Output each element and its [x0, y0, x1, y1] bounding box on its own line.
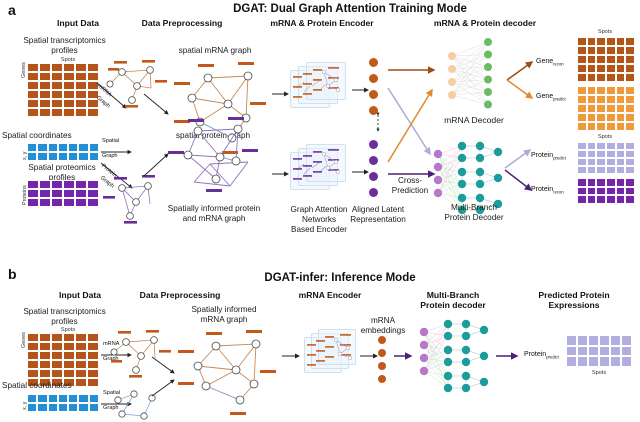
matrix-cell	[75, 99, 87, 108]
matrix-cell	[63, 360, 75, 369]
panel-a-header-data-preprocessing: Data Preprocessing	[122, 19, 242, 29]
matrix-cell	[48, 143, 58, 152]
arrow-label-spatial-graph-line1: Spatial	[102, 138, 119, 144]
matrix-cell	[606, 73, 616, 82]
matrix-cell	[616, 73, 626, 82]
decoder-input-node	[448, 91, 456, 99]
matrix-cell	[625, 37, 635, 46]
matrix-cell	[616, 166, 626, 174]
matrix-coordinates	[27, 143, 99, 161]
figure-root: a DGAT: Dual Graph Attention Training Mo…	[0, 0, 640, 420]
latent-node	[378, 362, 386, 370]
matrix-cell	[63, 108, 75, 117]
matrix-cell	[610, 335, 621, 346]
matrix-cell	[599, 356, 610, 367]
protein-predict-sub: predict	[553, 155, 566, 160]
matrix-cell	[587, 104, 597, 113]
panel-b-graph-combined	[176, 322, 284, 412]
matrix-cell	[577, 37, 587, 46]
decoder-branch-node	[462, 332, 470, 340]
panel-a-title: DGAT: Dual Graph Attention Training Mode	[200, 3, 500, 15]
matrix-cell	[51, 198, 63, 207]
matrix-cell	[63, 90, 75, 99]
label-spatial-mrna-graph: spatial mRNA graph	[160, 46, 270, 56]
matrix-cell	[27, 63, 39, 72]
matrix-cell	[599, 346, 610, 357]
panel-b-header-predicted-expressions: Predicted Protein Expressions	[516, 291, 632, 311]
output-label-gene-predict: Genepredict	[536, 93, 566, 101]
matrix-cell	[48, 394, 58, 403]
matrix-cell	[48, 152, 58, 161]
matrix-cell	[606, 166, 616, 174]
matrix-cell	[616, 37, 626, 46]
input-label-transcriptomics: Spatial transcriptomics profiles	[2, 36, 127, 56]
encoder-stack-mrna	[290, 58, 354, 118]
matrix-cell	[596, 73, 606, 82]
arrow-gene-predict	[506, 70, 540, 120]
decoder-branch-node	[458, 168, 466, 176]
decoder-input-node	[448, 65, 456, 73]
matrix-cell	[63, 99, 75, 108]
decoder-branch-node	[444, 320, 452, 328]
label-mrna-decoder: mRNA Decoder	[440, 115, 508, 125]
decoder-merge-node	[480, 352, 488, 360]
matrix-cell	[587, 95, 597, 104]
matrix-cell	[616, 55, 626, 64]
panel-b-arrow-output	[496, 350, 524, 362]
matrix-cell	[625, 142, 635, 150]
protein-predict-text: Protein	[531, 152, 553, 159]
panel-b-header-protein-decoder: Multi-Branch Protein decoder	[398, 291, 508, 311]
matrix-cell	[616, 64, 626, 73]
matrix-cell	[577, 142, 587, 150]
matrix-protein-predict	[577, 142, 635, 174]
protein-recon-sub: recon	[553, 189, 563, 194]
matrix-cell	[596, 55, 606, 64]
matrix-cell	[63, 180, 75, 189]
latent-node	[369, 74, 378, 83]
matrix-cell	[75, 90, 87, 99]
matrix-cell	[27, 180, 39, 189]
encoder-graph-motif-protein	[290, 140, 354, 200]
matrix-cell	[39, 360, 51, 369]
matrix-cell	[39, 63, 51, 72]
panel-b-input-label-transcriptomics: Spatial transcriptomics profiles	[2, 307, 127, 327]
matrix-cell	[566, 346, 577, 357]
matrix-cell	[51, 81, 63, 90]
matrix-cell	[596, 122, 606, 131]
panel-b-matrix-coordinates	[27, 394, 99, 412]
matrix-cell	[577, 55, 587, 64]
matrix-cell	[63, 63, 75, 72]
matrix-cell	[37, 152, 47, 161]
matrix-cell	[577, 150, 587, 158]
matrix-cell	[577, 113, 587, 122]
decoder-branch-node	[458, 142, 466, 150]
decoder-input-node	[420, 341, 428, 349]
matrix-cell	[596, 142, 606, 150]
matrix-cell	[596, 104, 606, 113]
matrix-cell	[621, 335, 632, 346]
matrix-cell	[625, 158, 635, 166]
decoder-output-node	[484, 76, 492, 84]
decoder-input-node	[448, 78, 456, 86]
matrix-cell	[577, 122, 587, 131]
matrix-cell	[37, 394, 47, 403]
matrix-cell	[606, 150, 616, 158]
panel-b-protein-predict-sub: predict	[546, 354, 559, 359]
matrix-cell	[596, 158, 606, 166]
matrix-cell	[577, 356, 588, 367]
matrix-cell	[577, 95, 587, 104]
matrix-cell	[75, 342, 87, 351]
matrix-cell	[577, 158, 587, 166]
panel-a-header-decoder: mRNA & Protein decoder	[410, 19, 560, 29]
matrix-cell	[75, 189, 87, 198]
decoder-branch-node	[462, 346, 470, 354]
matrix-cell	[27, 143, 37, 152]
panel-b-title: DGAT-infer: Inference Mode	[190, 272, 490, 284]
matrix-cell	[39, 189, 51, 198]
matrix-proteomics	[27, 180, 99, 207]
matrix-cell	[616, 178, 626, 187]
matrix-cell	[51, 351, 63, 360]
matrix-cell	[78, 394, 88, 403]
arrow-label-spatial-graph-line2: Graph	[102, 153, 118, 159]
matrix-cell	[39, 198, 51, 207]
matrix-cell	[27, 72, 39, 81]
matrix-cell	[606, 95, 616, 104]
matrix-cell	[75, 108, 87, 117]
axis-label-spots-gene: Spots	[577, 29, 633, 35]
matrix-cell	[51, 99, 63, 108]
matrix-cell	[625, 64, 635, 73]
matrix-cell	[606, 37, 616, 46]
matrix-cell	[63, 351, 75, 360]
matrix-cell	[616, 113, 626, 122]
decoder-output-node	[484, 88, 492, 96]
matrix-cell	[606, 158, 616, 166]
decoder-branch-node	[444, 346, 452, 354]
matrix-cell	[596, 113, 606, 122]
matrix-cell	[596, 86, 606, 95]
matrix-cell	[577, 187, 587, 196]
decoder-branch-node	[458, 194, 466, 202]
matrix-cell	[596, 64, 606, 73]
matrix-cell	[87, 333, 99, 342]
matrix-cell	[63, 189, 75, 198]
matrix-cell	[577, 346, 588, 357]
matrix-cell	[27, 394, 37, 403]
matrix-cell	[27, 403, 37, 412]
matrix-cell	[58, 394, 68, 403]
decoder-merge-node	[494, 174, 502, 182]
matrix-cell	[51, 342, 63, 351]
matrix-cell	[616, 187, 626, 196]
matrix-cell	[587, 113, 597, 122]
matrix-cell	[587, 55, 597, 64]
latent-node	[369, 188, 378, 197]
matrix-cell	[596, 95, 606, 104]
matrix-cell	[63, 72, 75, 81]
decoder-input-node	[434, 163, 442, 171]
matrix-cell	[27, 108, 39, 117]
matrix-cell	[616, 95, 626, 104]
matrix-cell	[616, 158, 626, 166]
matrix-cell	[75, 360, 87, 369]
matrix-cell	[58, 152, 68, 161]
matrix-cell	[577, 64, 587, 73]
matrix-cell	[51, 333, 63, 342]
matrix-cell	[58, 403, 68, 412]
panel-b-protein-predict-text: Protein	[524, 351, 546, 358]
output-label-protein-predict: Proteinpredict	[531, 152, 566, 160]
panel-b-decoder-network	[414, 316, 500, 402]
matrix-cell	[39, 72, 51, 81]
matrix-cell	[596, 150, 606, 158]
matrix-cell	[39, 90, 51, 99]
matrix-cell	[37, 143, 47, 152]
matrix-cell	[39, 99, 51, 108]
decoder-input-node	[434, 176, 442, 184]
matrix-cell	[87, 63, 99, 72]
matrix-cell	[625, 122, 635, 131]
matrix-cell	[27, 351, 39, 360]
decoder-branch-node	[444, 358, 452, 366]
matrix-cell	[616, 46, 626, 55]
matrix-cell	[596, 166, 606, 174]
output-label-gene-recon: Generecon	[536, 58, 564, 66]
matrix-cell	[625, 95, 635, 104]
matrix-cell	[606, 55, 616, 64]
matrix-cell	[39, 81, 51, 90]
matrix-gene-predict	[577, 86, 635, 131]
matrix-cell	[39, 342, 51, 351]
matrix-cell	[63, 333, 75, 342]
matrix-cell	[596, 195, 606, 204]
matrix-cell	[58, 143, 68, 152]
matrix-cell	[587, 178, 597, 187]
matrix-cell	[63, 198, 75, 207]
decoder-output-node	[484, 51, 492, 59]
matrix-cell	[87, 360, 99, 369]
matrix-cell	[587, 122, 597, 131]
matrix-cell	[625, 178, 635, 187]
matrix-cell	[89, 152, 99, 161]
decoder-branch-node	[476, 168, 484, 176]
decoder-branch-node	[444, 332, 452, 340]
matrix-cell	[596, 178, 606, 187]
matrix-cell	[75, 63, 87, 72]
alignment-double-arrow	[372, 112, 384, 136]
matrix-cell	[587, 158, 597, 166]
gene-predict-text: Gene	[536, 93, 553, 100]
latent-node	[369, 58, 378, 67]
decoder-input-node	[420, 367, 428, 375]
decoder-branch-node	[476, 180, 484, 188]
matrix-cell	[606, 142, 616, 150]
matrix-cell	[606, 195, 616, 204]
matrix-cell	[68, 143, 78, 152]
label-protein-decoder: Multi-Branch Protein Decoder	[434, 203, 514, 223]
panel-b-output-label: Proteinpredict	[524, 351, 559, 359]
panel-b-header-input-data: Input Data	[30, 291, 130, 301]
matrix-cell	[588, 346, 599, 357]
panel-b-matrix-output	[566, 335, 632, 367]
matrix-cell	[27, 198, 39, 207]
decoder-input-node	[448, 52, 456, 60]
decoder-output-node	[484, 63, 492, 71]
latent-node	[378, 349, 386, 357]
matrix-cell	[625, 195, 635, 204]
decoder-input-node	[420, 354, 428, 362]
decoder-output-node	[484, 101, 492, 109]
matrix-cell	[587, 150, 597, 158]
matrix-cell	[616, 86, 626, 95]
matrix-cell	[27, 99, 39, 108]
latent-node	[369, 140, 378, 149]
panel-a-header-encoder: mRNA & Protein Encoder	[252, 19, 392, 29]
matrix-cell	[75, 198, 87, 207]
matrix-cell	[616, 150, 626, 158]
matrix-cell	[587, 195, 597, 204]
matrix-cell	[606, 122, 616, 131]
matrix-cell	[577, 178, 587, 187]
panel-b-arrow-to-encoder	[282, 350, 306, 362]
matrix-cell	[606, 46, 616, 55]
matrix-cell	[587, 73, 597, 82]
panel-b-header-data-preprocessing: Data Preprocessing	[120, 291, 240, 301]
matrix-cell	[75, 81, 87, 90]
latent-node	[369, 90, 378, 99]
matrix-cell	[63, 342, 75, 351]
arrow-protein-recon	[504, 166, 540, 200]
matrix-cell	[87, 198, 99, 207]
label-latent-representation: Aligned Latent Representation	[340, 205, 416, 225]
matrix-transcriptomics	[27, 63, 99, 117]
latent-nodes-protein	[369, 140, 378, 204]
matrix-cell	[606, 86, 616, 95]
matrix-cell	[577, 73, 587, 82]
matrix-cell	[577, 335, 588, 346]
matrix-cell	[27, 342, 39, 351]
matrix-cell	[89, 143, 99, 152]
matrix-cell	[27, 81, 39, 90]
matrix-cell	[89, 394, 99, 403]
matrix-cell	[606, 178, 616, 187]
matrix-cell	[621, 356, 632, 367]
decoder-mrna-network	[442, 34, 502, 114]
decoder-input-node	[420, 328, 428, 336]
decoder-branch-node	[462, 372, 470, 380]
decoder-branch-node	[462, 358, 470, 366]
matrix-cell	[596, 46, 606, 55]
matrix-cell	[27, 189, 39, 198]
matrix-cell	[587, 86, 597, 95]
matrix-cell	[625, 55, 635, 64]
output-label-protein-recon: Proteinrecon	[531, 186, 564, 194]
matrix-cell	[78, 143, 88, 152]
matrix-cell	[87, 369, 99, 378]
matrix-cell	[625, 86, 635, 95]
matrix-cell	[51, 63, 63, 72]
decoder-branch-node	[462, 320, 470, 328]
matrix-cell	[48, 403, 58, 412]
matrix-cell	[616, 142, 626, 150]
matrix-cell	[51, 360, 63, 369]
decoder-branch-node	[458, 180, 466, 188]
panel-a-letter: a	[8, 2, 16, 18]
matrix-cell	[587, 187, 597, 196]
panel-b-header-mrna-encoder: mRNA Encoder	[280, 291, 380, 301]
panel-b-label-mrna-embeddings: mRNA embeddings	[352, 316, 414, 336]
gene-recon-sub: recon	[553, 61, 563, 66]
matrix-cell	[587, 37, 597, 46]
matrix-cell	[39, 351, 51, 360]
panel-b-axis-label-spots: Spots	[566, 370, 632, 376]
matrix-cell	[51, 108, 63, 117]
matrix-cell	[625, 46, 635, 55]
panel-b-matrix-transcriptomics	[27, 333, 99, 387]
matrix-cell	[89, 403, 99, 412]
matrix-cell	[63, 369, 75, 378]
matrix-cell	[51, 90, 63, 99]
matrix-cell	[75, 333, 87, 342]
matrix-cell	[51, 180, 63, 189]
matrix-cell	[625, 73, 635, 82]
matrix-cell	[87, 180, 99, 189]
decoder-output-node	[484, 38, 492, 46]
matrix-cell	[39, 333, 51, 342]
latent-node	[378, 375, 386, 383]
protein-recon-text: Protein	[531, 186, 553, 193]
matrix-cell	[588, 335, 599, 346]
panel-b-embedding-nodes	[378, 336, 386, 388]
latent-node	[378, 336, 386, 344]
matrix-cell	[39, 180, 51, 189]
matrix-cell	[616, 122, 626, 131]
decoder-branch-node	[476, 194, 484, 202]
latent-node	[369, 172, 378, 181]
matrix-cell	[625, 150, 635, 158]
matrix-cell	[87, 342, 99, 351]
decoder-branch-node	[444, 372, 452, 380]
matrix-cell	[75, 72, 87, 81]
matrix-cell	[625, 187, 635, 196]
matrix-cell	[39, 369, 51, 378]
gene-recon-text: Gene	[536, 58, 553, 65]
gene-predict-sub: predict	[553, 96, 566, 101]
matrix-cell	[87, 189, 99, 198]
matrix-cell	[577, 104, 587, 113]
matrix-cell	[68, 394, 78, 403]
decoder-branch-node	[476, 154, 484, 162]
matrix-cell	[37, 403, 47, 412]
matrix-cell	[606, 113, 616, 122]
matrix-cell	[610, 356, 621, 367]
matrix-cell	[616, 104, 626, 113]
matrix-cell	[68, 152, 78, 161]
matrix-cell	[606, 187, 616, 196]
matrix-cell	[621, 346, 632, 357]
matrix-cell	[625, 113, 635, 122]
matrix-cell	[587, 166, 597, 174]
matrix-cell	[625, 104, 635, 113]
matrix-cell	[27, 90, 39, 99]
panel-a-header-input-data: Input Data	[28, 19, 128, 29]
matrix-cell	[577, 86, 587, 95]
axis-label-spots-protein: Spots	[577, 134, 633, 140]
